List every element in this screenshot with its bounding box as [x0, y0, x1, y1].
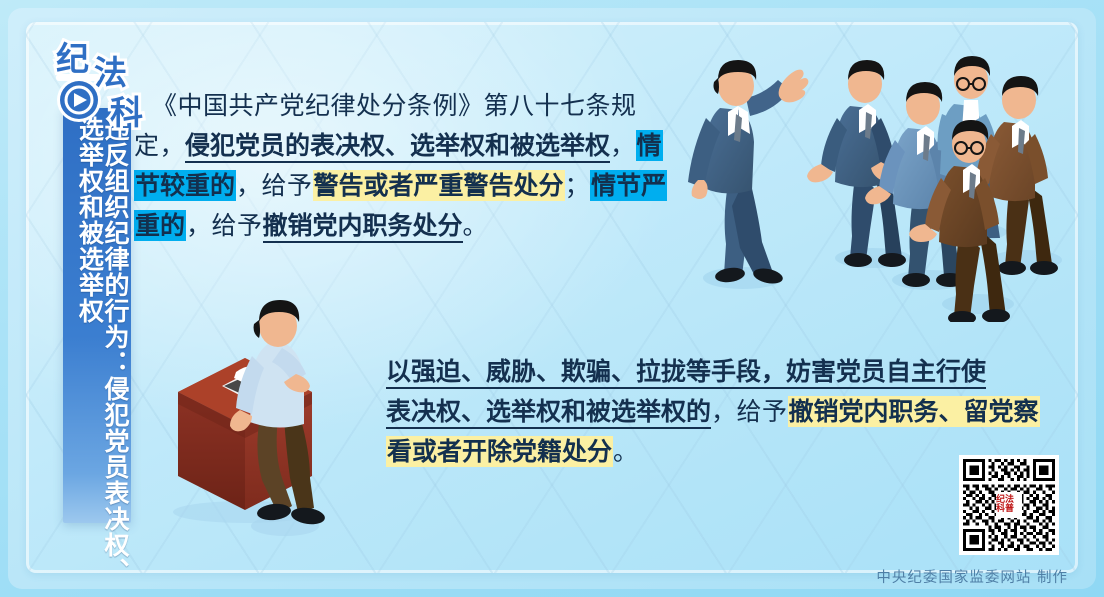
qr-code-grid: 纪法科普	[963, 459, 1055, 551]
play-circle-icon	[57, 78, 101, 122]
footer-credit: 中央纪委国家监委网站 制作	[876, 566, 1068, 587]
p1-l3-seg-1: 节较重的	[134, 170, 236, 201]
ballot-box-voter-illustration	[150, 300, 380, 550]
p1-line-1: 《中国共产党纪律处分条例》第八十七条规	[134, 86, 682, 126]
p1-l2-seg-2: 侵犯党员的表决权、选举权和被选举权	[185, 131, 610, 163]
qr-center-logo: 纪法科普	[996, 492, 1022, 518]
paragraph-article-87: 《中国共产党纪律处分条例》第八十七条规 定，侵犯党员的表决权、选举权和被选举权，…	[134, 86, 682, 246]
p2-l3-seg-2: 。	[613, 437, 639, 466]
p2-line-3: 看或者开除党籍处分。	[386, 432, 996, 472]
paragraph-coercion-clause: 以强迫、威胁、欺骗、拉拢等手段，妨害党员自主行使 表决权、选举权和被选举权的，给…	[386, 352, 996, 472]
p1-l2-seg-1: 定，	[134, 131, 185, 160]
group-of-officials-illustration	[668, 22, 1098, 322]
logo-char-fa-fill: 法	[94, 53, 127, 92]
p1-l1-seg-1: 《中国共产党纪律处分条例》第八十七条规	[152, 91, 637, 120]
p1-line-2: 定，侵犯党员的表决权、选举权和被选举权，情	[134, 126, 682, 166]
p2-l3-seg-1: 看或者开除党籍处分	[386, 436, 613, 467]
p1-l2-seg-4: 情	[636, 130, 663, 161]
logo-underline	[56, 74, 100, 81]
p1-l3-seg-5: 情节严	[590, 170, 667, 201]
p2-l1-seg-1: 以强迫、威胁、欺骗、拉拢等手段，妨害党员自主行使	[386, 357, 986, 389]
vertical-banner: 违反组织纪律的行为：侵犯党员表决权、 选举权和被选举权	[63, 108, 131, 523]
p1-l4-seg-2: ，给予	[186, 211, 263, 240]
figure-lone-man	[688, 60, 808, 286]
p1-l3-seg-4: ；	[565, 171, 591, 200]
p1-l4-seg-1: 重的	[134, 210, 186, 241]
p1-l3-seg-3: 警告或者严重警告处分	[313, 170, 565, 201]
p1-l2-seg-3: ，	[610, 131, 636, 160]
logo-char-ke-fill: 科	[110, 93, 143, 130]
p1-l3-seg-2: ，给予	[236, 171, 313, 200]
poster-root: 纪 纪 法 法 科 科 违反组织纪律的行为：侵犯党员表决权、 选举权和被选举权 …	[0, 0, 1104, 597]
p2-l2-seg-2: ，给予	[711, 397, 788, 426]
p2-line-2: 表决权、选举权和被选举权的，给予撤销党内职务、留党察	[386, 392, 996, 432]
p1-line-4: 重的，给予撤销党内职务处分。	[134, 206, 682, 246]
banner-column-sub: 选举权和被选举权	[77, 116, 103, 517]
p1-l4-seg-4: 。	[463, 211, 489, 240]
p2-l2-seg-1: 表决权、选举权和被选举权的	[386, 397, 711, 429]
p2-line-1: 以强迫、威胁、欺骗、拉拢等手段，妨害党员自主行使	[386, 352, 996, 392]
logo-char-ji-fill: 纪	[56, 39, 89, 78]
qr-code[interactable]: 纪法科普	[959, 455, 1059, 555]
p1-line-3: 节较重的，给予警告或者严重警告处分；情节严	[134, 166, 682, 206]
p1-l4-seg-3: 撤销党内职务处分	[263, 211, 463, 243]
banner-column-main: 违反组织纪律的行为：侵犯党员表决权、	[103, 116, 129, 517]
p2-l2-seg-3: 撤销党内职务、留党察	[788, 396, 1040, 427]
logo-jifa-kepu: 纪 纪 法 法 科 科	[52, 38, 168, 130]
